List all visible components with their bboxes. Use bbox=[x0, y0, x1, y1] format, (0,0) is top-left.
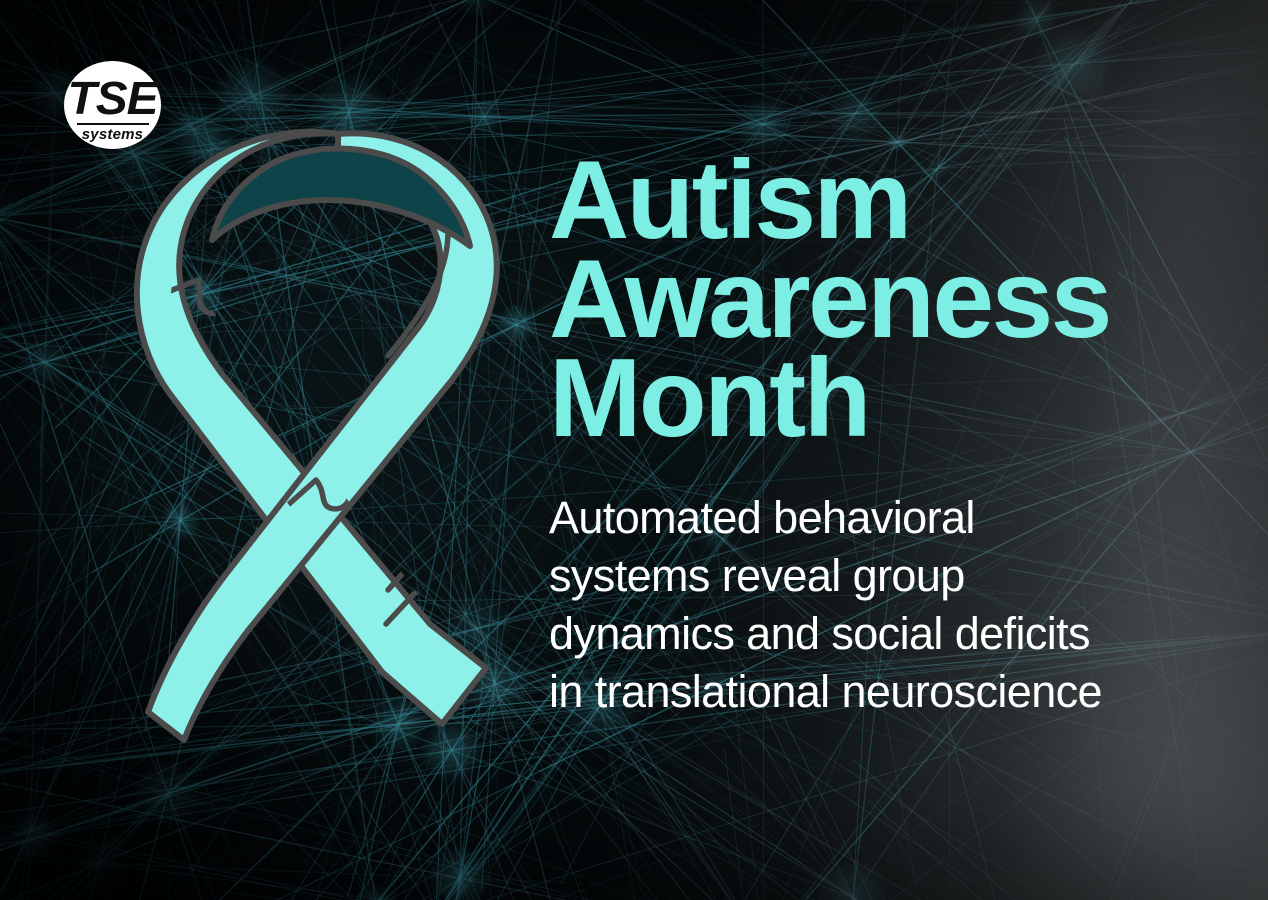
awareness-ribbon-graphic bbox=[130, 112, 560, 752]
subtitle-line-2: systems reveal group bbox=[549, 547, 1249, 605]
subtitle: Automated behavioral systems reveal grou… bbox=[549, 489, 1249, 721]
headline-line-2: Awareness bbox=[549, 250, 1249, 349]
subtitle-line-3: dynamics and social deficits bbox=[549, 605, 1249, 663]
autism-awareness-month-poster: TSE systems bbox=[0, 0, 1268, 900]
headline-line-3: Month bbox=[549, 349, 1249, 448]
page-title: Autism Awareness Month bbox=[549, 151, 1249, 448]
subtitle-line-4: in translational neuroscience bbox=[549, 663, 1249, 721]
headline-line-1: Autism bbox=[549, 151, 1249, 250]
subtitle-line-1: Automated behavioral bbox=[549, 489, 1249, 547]
